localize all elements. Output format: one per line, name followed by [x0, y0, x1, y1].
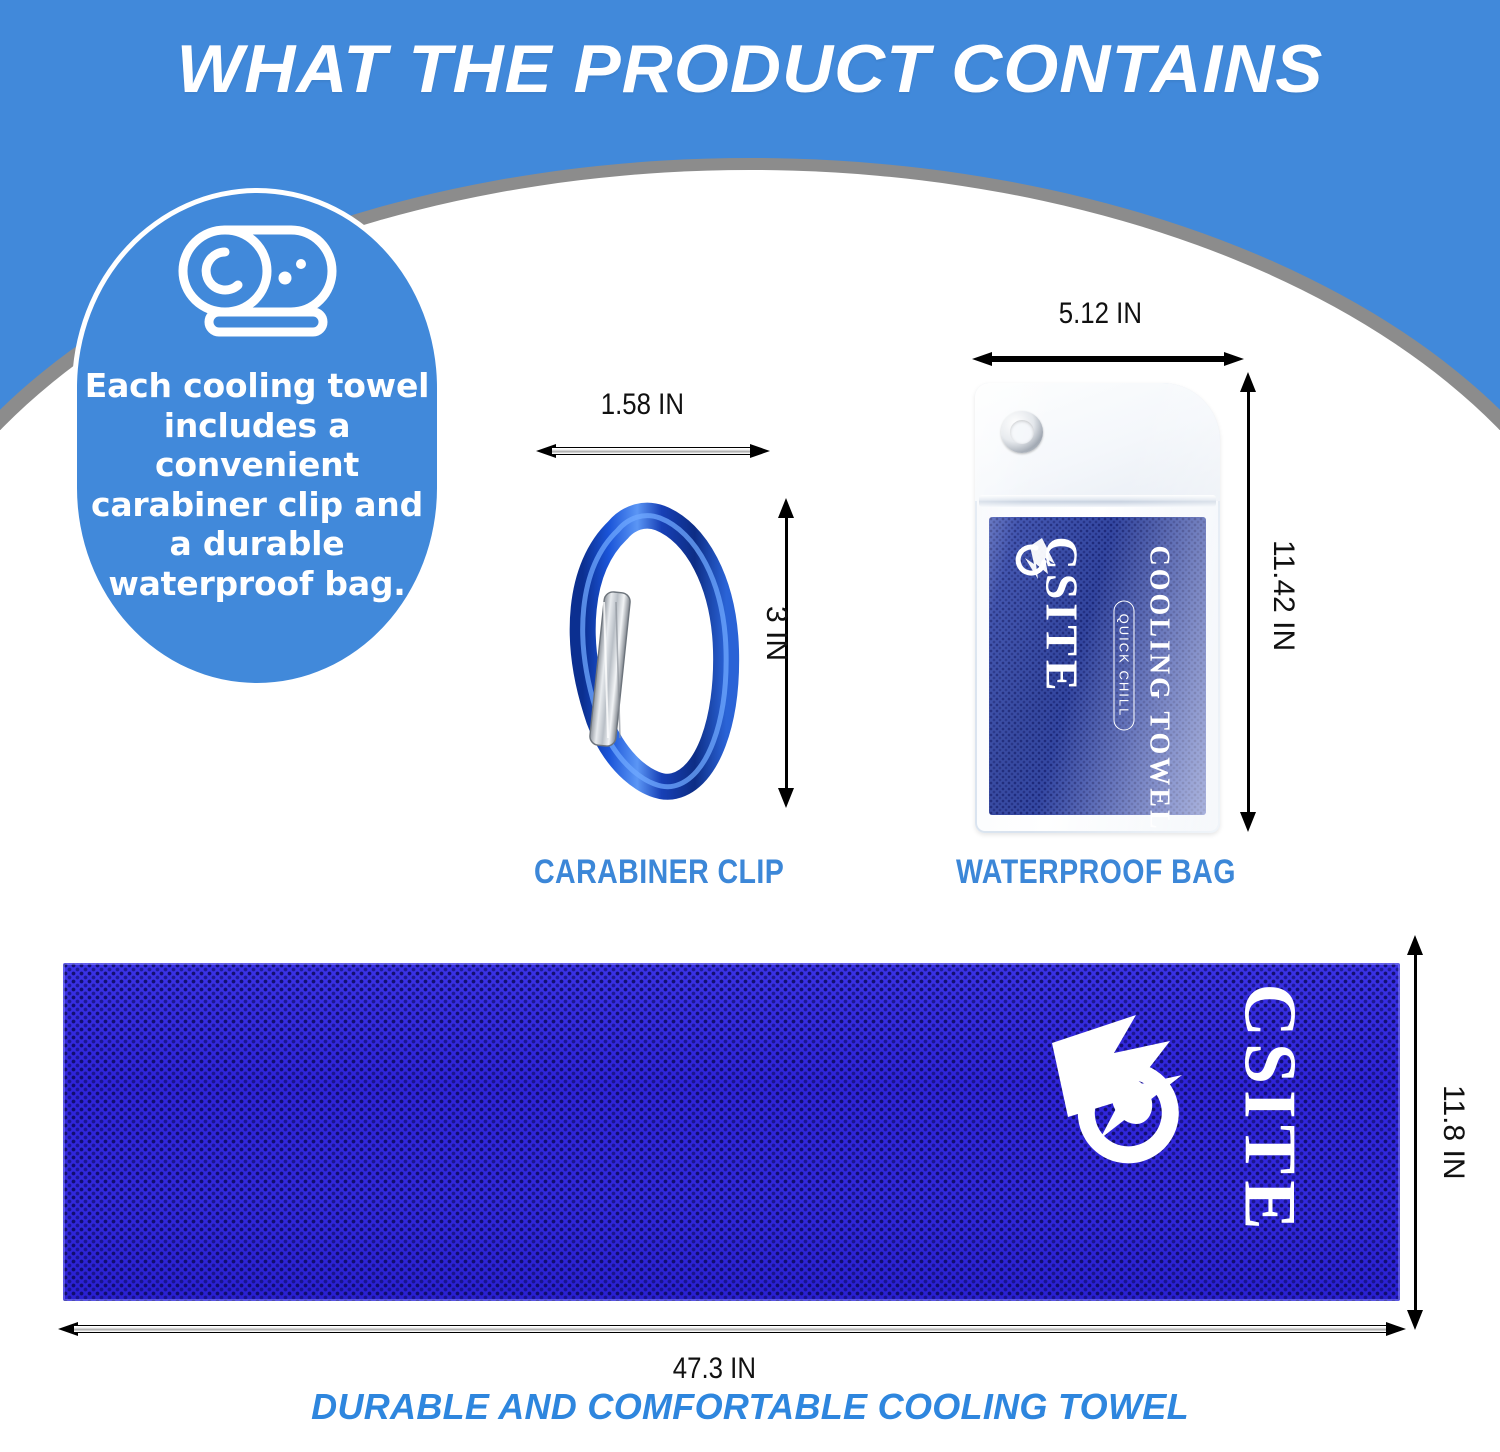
bag-grommet-icon	[1001, 411, 1043, 453]
towel-brand-text: CSITE	[1227, 965, 1312, 1255]
bag-height-label: 11.42 IN	[1266, 540, 1300, 651]
rolled-towel-icon	[173, 220, 341, 343]
towel-height-dimension	[1407, 935, 1423, 1330]
bag-zipper-seal	[979, 495, 1216, 507]
infographic-canvas: WHAT THE PRODUCT CONTAINS Each cooling t…	[0, 0, 1500, 1452]
bag-brand-text: CSITE	[1036, 537, 1089, 787]
carabiner-width-label: 1.58 IN	[601, 388, 684, 422]
carabiner-caption: CARABINER CLIP	[534, 853, 784, 892]
carabiner-clip-image	[556, 490, 771, 810]
towel-height-label: 11.8 IN	[1436, 1085, 1470, 1180]
badge-text: Each cooling towel includes a convenient…	[82, 366, 432, 604]
feature-badge: Each cooling towel includes a convenient…	[72, 188, 442, 688]
bag-width-label: 5.12 IN	[1059, 297, 1142, 331]
page-title: WHAT THE PRODUCT CONTAINS	[0, 30, 1500, 108]
bag-inner-towel: CSITE COOLING TOWEL QUICK CHILL	[989, 517, 1206, 815]
carabiner-height-label: 3 IN	[759, 606, 793, 661]
towel-width-label: 47.3 IN	[673, 1352, 756, 1386]
carabiner-width-dimension	[536, 444, 770, 458]
towel-caption: DURABLE AND COMFORTABLE COOLING TOWEL	[0, 1386, 1500, 1428]
bag-height-dimension	[1240, 372, 1256, 832]
cooling-towel-image: CSITE	[63, 963, 1400, 1301]
towel-width-dimension	[58, 1322, 1406, 1336]
bag-width-dimension	[972, 352, 1244, 366]
bag-product-info: COOLING TOWEL QUICK CHILL	[1114, 546, 1175, 786]
towel-csite-swoosh-logo-icon	[1040, 1009, 1200, 1194]
waterproof-bag-image: CSITE COOLING TOWEL QUICK CHILL	[975, 383, 1220, 833]
bag-product-line-1: COOLING TOWEL	[1143, 546, 1175, 786]
bag-caption: WATERPROOF BAG	[956, 853, 1236, 892]
bag-product-line-2: QUICK CHILL	[1114, 601, 1135, 731]
